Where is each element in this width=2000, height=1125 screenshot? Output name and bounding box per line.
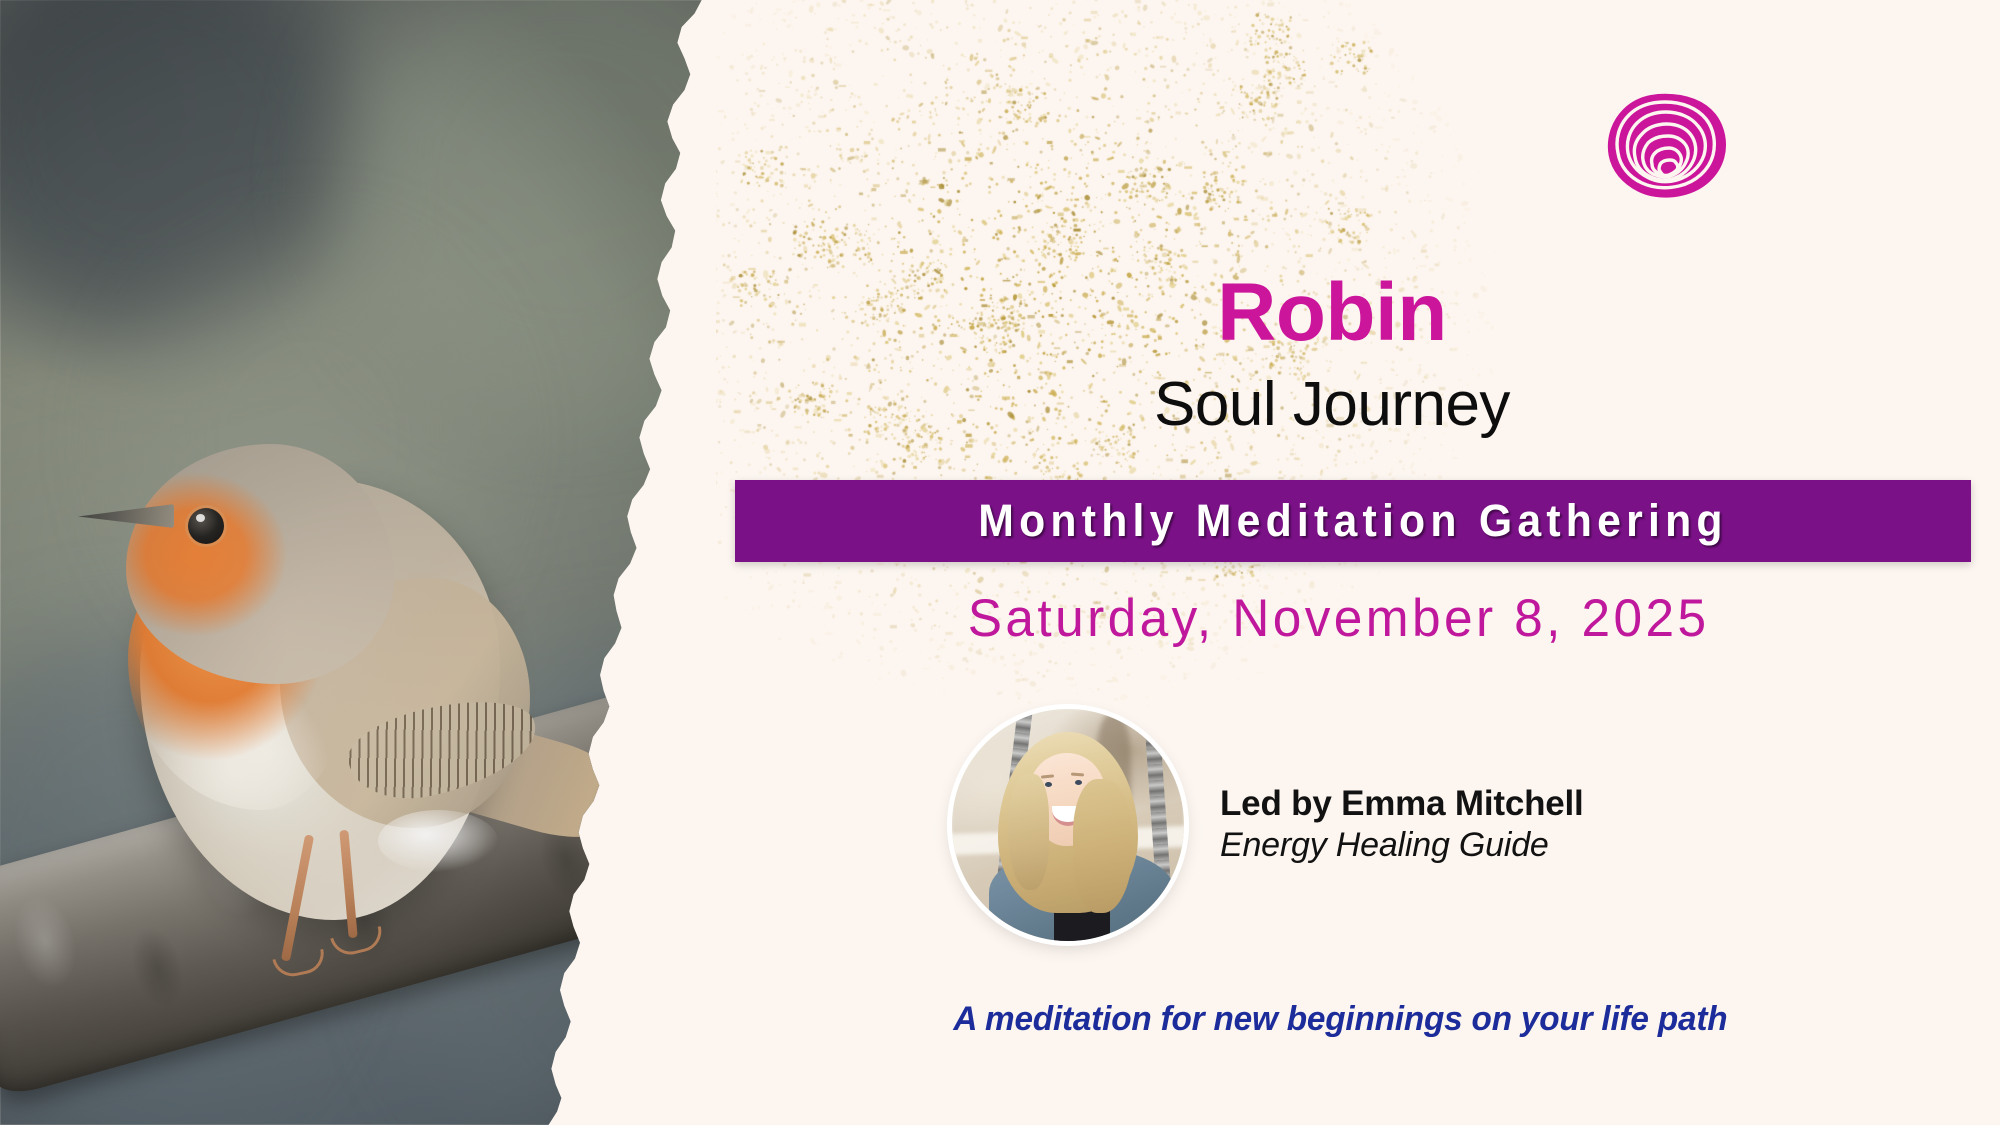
torn-paper-photo-clip [0,0,716,1125]
bird-foot [330,926,386,959]
robin-photo-panel [0,0,716,1125]
presenter-block: Led by Emma Mitchell Energy Healing Guid… [952,700,1752,950]
avatar-hair-strand [1008,774,1050,890]
presenter-name: Led by Emma Mitchell [1220,784,1584,823]
event-banner: Monthly Meditation Gathering [735,480,1971,562]
page-subtitle: Soul Journey [716,374,2000,436]
bird-eye [188,508,224,544]
presenter-role: Energy Healing Guide [1220,825,1584,866]
avatar-hair-strand [1073,779,1133,914]
bird-beak [78,504,174,528]
avatar-eye [1045,782,1052,787]
bird-vent [378,810,498,872]
event-banner-label: Monthly Meditation Gathering [766,480,1940,562]
robin-bird-illustration [48,410,608,970]
avatar-eyebrow [1071,772,1084,776]
tagline: A meditation for new beginnings on your … [729,1000,1987,1039]
page-title: Robin [716,272,2000,354]
poster-canvas: Robin Soul Journey Monthly Meditation Ga… [0,0,2000,1125]
event-date: Saturday, November 8, 2025 [735,588,1980,649]
avatar [952,709,1184,941]
bird-head [126,444,394,684]
rose-icon [1596,88,1734,212]
presenter-text: Led by Emma Mitchell Energy Healing Guid… [1220,784,1584,866]
content-panel: Robin Soul Journey Monthly Meditation Ga… [716,0,2000,1125]
avatar-eye [1075,780,1082,785]
